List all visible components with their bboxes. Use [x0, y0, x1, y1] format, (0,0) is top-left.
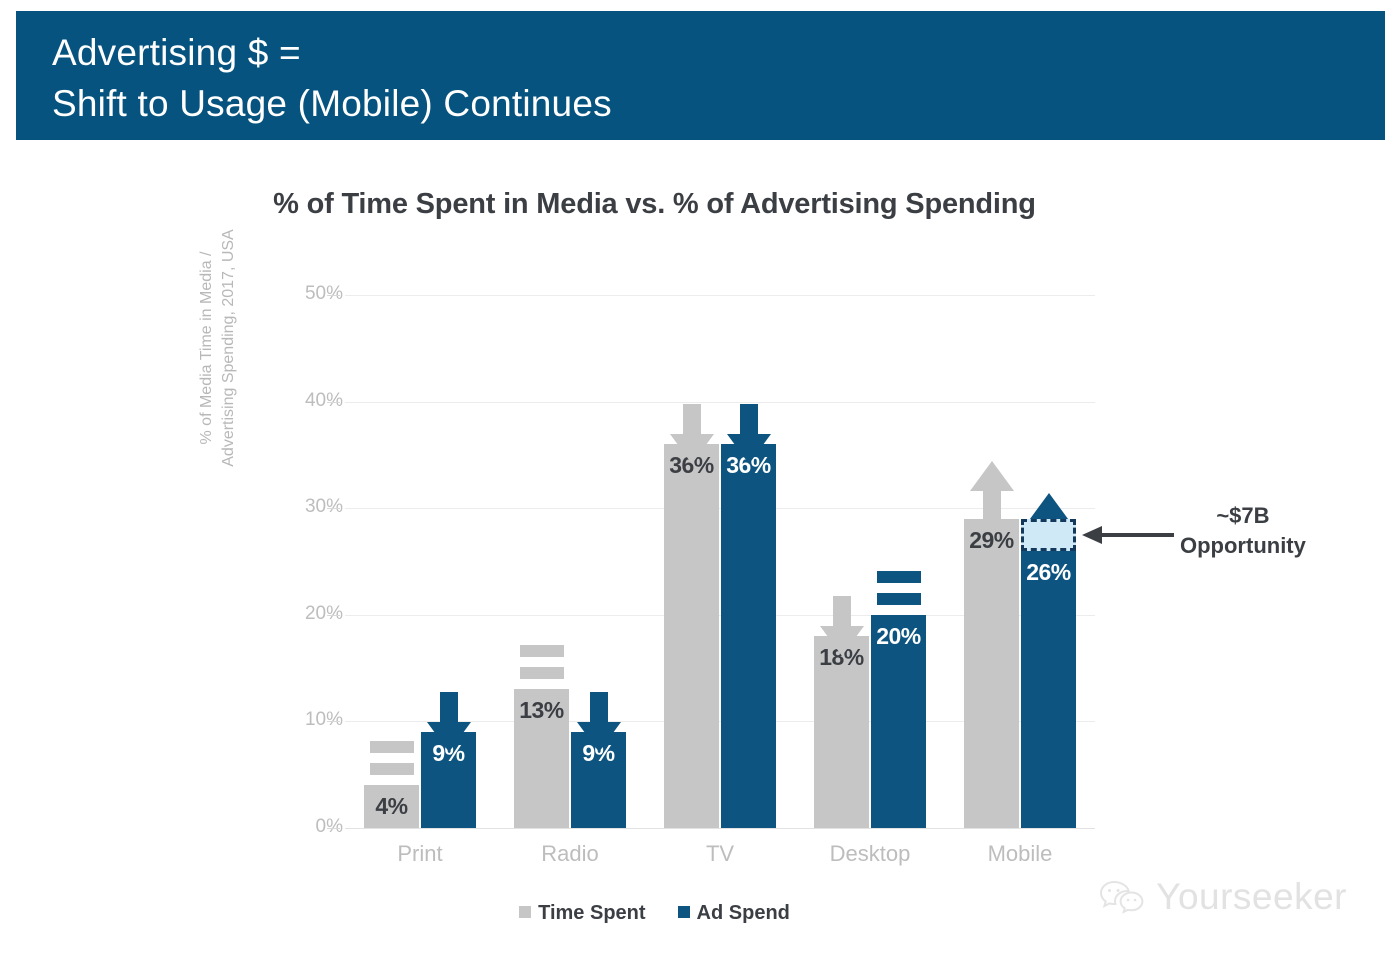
y-axis-title-line2: Advertising Spending, 2017, USA [218, 178, 240, 518]
x-tick-label-desktop: Desktop [795, 841, 945, 867]
y-tick-label: 20% [223, 603, 343, 625]
bar-tv-ad-spend: 36% [721, 444, 776, 828]
bar-desktop-ad-spend: 20% [871, 615, 926, 828]
y-tick-mark [327, 402, 340, 403]
trend-equals-icon [369, 739, 415, 779]
trend-down-arrow-icon [669, 404, 715, 466]
bar-mobile-ad-spend: 26% [1021, 551, 1076, 828]
chart-title-text: % of Time Spent in Media vs. % of Advert… [273, 188, 1036, 221]
watermark: Yourseeker [1100, 876, 1347, 918]
bar-tv-time-spent: 36% [664, 444, 719, 828]
legend-swatch [519, 906, 531, 918]
x-tick-label-tv: TV [645, 841, 795, 867]
trend-down-arrow-icon [576, 692, 622, 754]
x-tick-label-print: Print [345, 841, 495, 867]
y-axis-title: % of Media Time in Media / Advertising S… [196, 178, 244, 518]
slide-header-band: Advertising $ = Shift to Usage (Mobile) … [16, 11, 1385, 140]
bar-mobile-time-spent: 29% [964, 519, 1019, 828]
trend-equals-icon [876, 569, 922, 609]
bar-value-label: 29% [964, 527, 1019, 554]
watermark-text: Yourseeker [1156, 876, 1347, 918]
x-tick-label-radio: Radio [495, 841, 645, 867]
bar-radio-time-spent: 13% [514, 689, 569, 828]
y-axis-title-line1: % of Media Time in Media / [196, 178, 218, 518]
trend-equals-icon [519, 643, 565, 683]
opportunity-amount: ~$7B [1180, 501, 1306, 531]
chart-container: % of Time Spent in Media vs. % of Advert… [0, 140, 1399, 960]
y-tick-label: 0% [223, 816, 343, 838]
gridline [345, 402, 1095, 403]
x-tick-label-mobile: Mobile [945, 841, 1095, 867]
y-tick-mark [327, 615, 340, 616]
opportunity-arrow-icon [1080, 525, 1176, 545]
y-tick-label: 10% [223, 709, 343, 731]
opportunity-box [1021, 519, 1076, 551]
trend-down-arrow-icon [819, 596, 865, 658]
bar-desktop-time-spent: 18% [814, 636, 869, 828]
gridline [345, 295, 1095, 296]
trend-down-arrow-icon [726, 404, 772, 466]
opportunity-callout: ~$7B Opportunity [1180, 501, 1306, 561]
legend-label: Ad Spend [697, 902, 790, 924]
bar-value-label: 26% [1021, 559, 1076, 586]
wechat-bubbles-icon [1100, 880, 1146, 914]
y-tick-mark [327, 295, 340, 296]
legend-item-time-spent[interactable]: Time Spent [519, 902, 645, 925]
y-tick-mark [327, 828, 340, 829]
y-tick-label: 50% [223, 283, 343, 305]
bar-value-label: 20% [871, 623, 926, 650]
plot-area: 50%40%30%20%10%0% 4%9%13%9%36%36%18%20%2… [345, 295, 1095, 828]
opportunity-label: Opportunity [1180, 533, 1306, 558]
bar-print-time-spent: 4% [364, 785, 419, 828]
y-tick-label: 40% [223, 390, 343, 412]
trend-up-arrow-icon [969, 459, 1015, 521]
bar-value-label: 4% [364, 793, 419, 820]
gridline [345, 828, 1095, 829]
bar-value-label: 13% [514, 697, 569, 724]
y-tick-label: 30% [223, 496, 343, 518]
trend-down-arrow-icon [426, 692, 472, 754]
legend-item-ad-spend[interactable]: Ad Spend [678, 902, 790, 925]
legend-label: Time Spent [538, 902, 645, 924]
slide-title: Advertising $ = Shift to Usage (Mobile) … [52, 27, 1385, 129]
y-tick-mark [327, 721, 340, 722]
legend-swatch [678, 906, 690, 918]
y-tick-mark [327, 508, 340, 509]
chart-title: % of Time Spent in Media vs. % of Advert… [0, 188, 1399, 221]
